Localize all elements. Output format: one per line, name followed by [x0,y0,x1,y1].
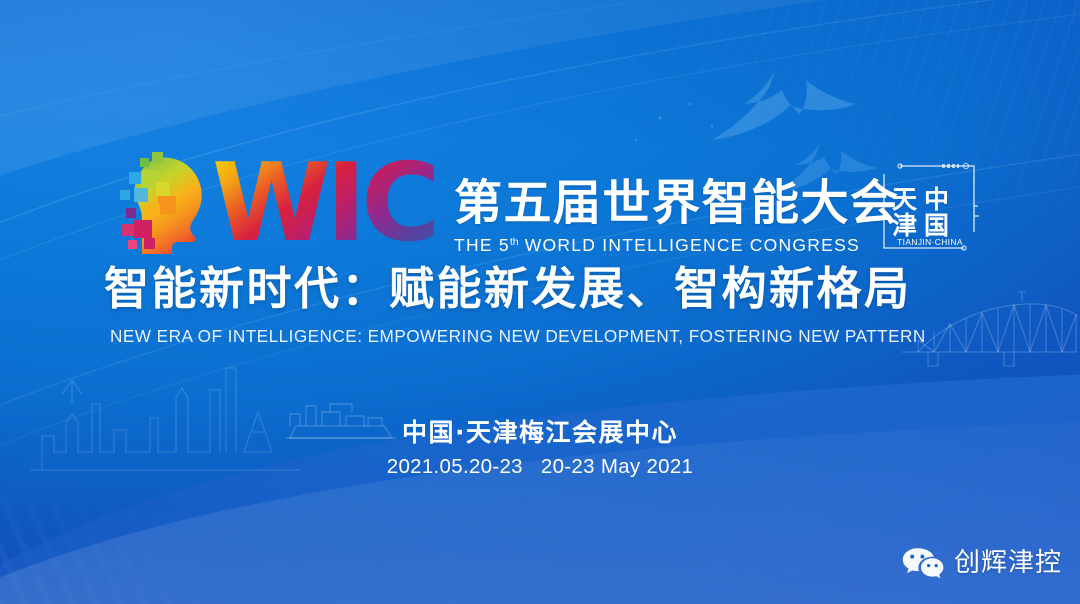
venue-label: 中国·天津梅江会展中心 [0,417,1080,449]
date-en-format: 20-23 May 2021 [541,455,693,478]
slogan-en: NEW ERA OF INTELLIGENCE: EMPOWERING NEW … [110,325,990,347]
slogan-cn: 智能新时代：赋能新发展、智构新格局 [104,262,1004,316]
poster-content: WIC 第五届世界智能大会 THE 5th WORLD INTELLIGENCE… [0,0,1080,604]
wic-head-pixel-mark-icon [112,152,208,256]
badge-latin-label: TIANJIN·CHINA [897,237,963,247]
congress-title-block: 第五届世界智能大会 THE 5th WORLD INTELLIGENCE CON… [454,177,900,256]
poster-canvas: WIC 第五届世界智能大会 THE 5th WORLD INTELLIGENCE… [0,0,1080,604]
logo-title-row: WIC 第五届世界智能大会 THE 5th WORLD INTELLIGENCE… [112,152,900,256]
wechat-watermark: 创辉津控 [901,546,1062,580]
congress-title-en: THE 5th WORLD INTELLIGENCE CONGRESS [454,232,900,255]
congress-title-cn: 第五届世界智能大会 [454,177,900,229]
congress-title-en-ordinal: th [510,236,519,248]
badge-char-zhong: 中 [924,185,949,214]
svg-text:WIC: WIC [212,154,434,256]
badge-char-jin: 津 [892,211,917,240]
wechat-icon [901,546,945,580]
wic-wordmark: WIC [212,154,434,256]
congress-title-en-suffix: WORLD INTELLIGENCE CONGRESS [519,235,860,255]
badge-char-tian: 天 [892,185,917,214]
date-cn-format: 2021.05.20-23 [387,455,523,478]
wechat-account-name: 创辉津控 [954,548,1062,578]
badge-char-guo: 国 [924,211,949,240]
congress-title-en-prefix: THE 5 [454,235,510,255]
date-label: 2021.05.20-2320-23 May 2021 [0,454,1080,480]
tianjin-china-badge: 天 津 中 国 TIANJIN·CHINA [878,160,982,254]
